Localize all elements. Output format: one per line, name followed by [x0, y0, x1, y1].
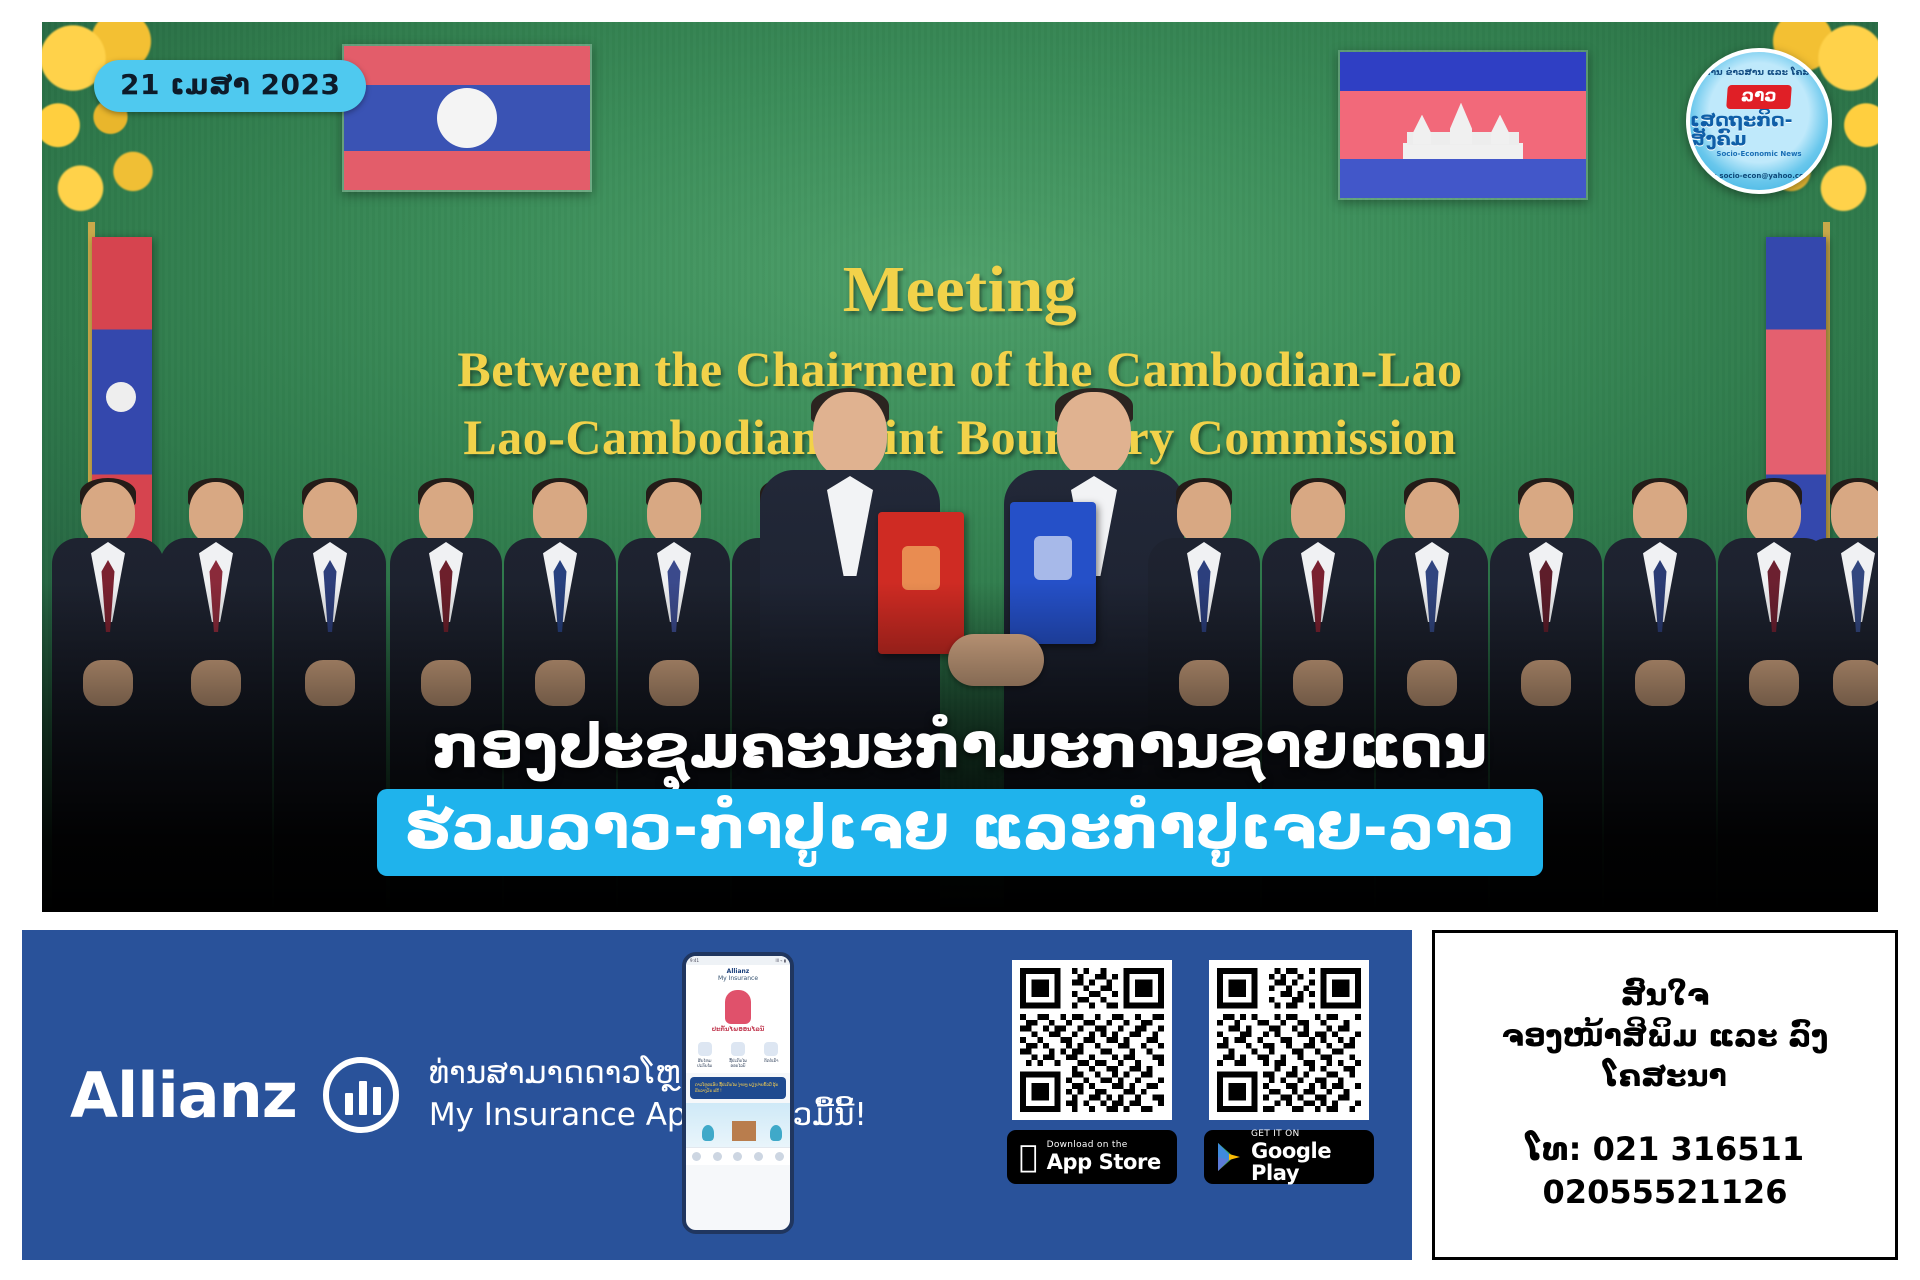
allianz-wordmark: Allianz: [70, 1059, 297, 1132]
allianz-bars-icon: [323, 1057, 399, 1133]
tree-icon: [702, 1125, 714, 1141]
lao-flag-top-band: [344, 46, 590, 85]
lao-flag: [342, 44, 592, 192]
photo-banner: Meeting Between the Chairmen of the Camb…: [42, 22, 1878, 912]
contact-phone-1[interactable]: ໂທ: 021 316511: [1526, 1128, 1804, 1171]
allianz-ad-banner[interactable]: Allianz ທ່ານສາມາດດາວໂຫຼດ My Insurance Ap…: [22, 930, 1412, 1260]
phone-tile: ຊື້ປະກັນໄພ ອອນໄລນ໌: [725, 1042, 751, 1068]
date-badge: 21 ເມສາ 2023: [94, 60, 366, 112]
phone-status-icons: lll ⌁ ▮: [776, 958, 787, 963]
house-icon: [732, 1121, 756, 1141]
angkor-wat-icon: [1403, 101, 1523, 159]
allianz-tagline-line1: ທ່ານສາມາດດາວໂຫຼດ: [429, 1053, 867, 1095]
logo-main-text: ເສດຖະກິດ-ສັງຄົມ: [1690, 111, 1828, 149]
qr-code-googleplay[interactable]: [1209, 960, 1369, 1120]
allianz-logo-group: Allianz: [22, 1057, 399, 1133]
wall-title-line1: Meeting: [42, 252, 1878, 328]
cambodia-flag-top-band: [1340, 52, 1586, 91]
logo-ribbon-text: ລາວ: [1726, 85, 1791, 109]
bottom-row: Allianz ທ່ານສາມາດດາວໂຫຼດ My Insurance Ap…: [22, 930, 1898, 1260]
lao-flag-bottom-band: [344, 151, 590, 190]
claim-icon: [698, 1042, 712, 1056]
gold-decoration-left: [42, 22, 178, 226]
headline-block: ກອງປະຊຸມຄະນະກຳມະການຊາຍແດນ ຮ່ວມລາວ-ກຳປູເຈ…: [84, 714, 1836, 876]
qr-code-appstore[interactable]: [1012, 960, 1172, 1120]
nav-chat-icon: [754, 1152, 763, 1161]
phone-hero: ປະກັນໄພອອນໄລນ໌: [686, 984, 790, 1037]
phone-navbar: [686, 1147, 790, 1165]
phone-tile-row: ສິນໄຫມ ປະກັນໄພ ຊື້ປະກັນໄພ ອອນໄລນ໌ ຕິດຕໍ່…: [686, 1037, 790, 1073]
lao-flag-middle-band: [344, 85, 590, 151]
phone-tile: ຕິດຕໍ່ເຮົາ: [758, 1042, 784, 1068]
nav-card-icon: [733, 1152, 742, 1161]
contact-box: ສົນໃຈ ຈອງໜ້າສິພິມ ແລະ ລົງໂຄສະນາ ໂທ: 021 …: [1432, 930, 1898, 1260]
phone-mockup: 9:41 lll ⌁ ▮ Allianz My Insurance ປະກັນໄ…: [682, 952, 794, 1234]
buy-icon: [731, 1042, 745, 1056]
phone-promo-highlight: ຟຣີ !: [713, 1088, 721, 1093]
headline-line-1: ກອງປະຊຸມຄະນະກຳມະການຊາຍແດນ: [84, 714, 1836, 781]
nav-search-icon: [713, 1152, 722, 1161]
apple-icon: : [1019, 1142, 1038, 1173]
cambodia-flag: [1338, 50, 1588, 200]
logo-contact-text: E-Mail: socio-econ@yahoo.com ໂທ: 021 316…: [1690, 172, 1828, 180]
google-play-button[interactable]: GET IT ON Google Play: [1204, 1130, 1374, 1184]
phone-app-brand: Allianz: [686, 968, 790, 975]
tree-icon: [770, 1125, 782, 1141]
app-store-big-label: App Store: [1047, 1151, 1161, 1173]
phone-tile: ສິນໄຫມ ປະກັນໄພ: [692, 1042, 718, 1068]
logo-arc-top-text: ບໍລິການ ຂ່າວສານ ແລະ ໂຄສະນາ - ປະຊາສຳພັນ: [1690, 68, 1828, 78]
phone-hero-figure-icon: [725, 990, 751, 1024]
googleplay-block[interactable]: GET IT ON Google Play: [1204, 960, 1374, 1184]
logo-subtitle-text: Socio-Economic News: [1716, 150, 1801, 158]
phone-statusbar: 9:41 lll ⌁ ▮: [686, 956, 790, 965]
nav-profile-icon: [775, 1152, 784, 1161]
allianz-tagline-line2: My Insurance App ໄດ້ແລ້ວມື້ນີ້!: [429, 1095, 867, 1137]
contact-icon: [764, 1042, 778, 1056]
poster-root: Meeting Between the Chairmen of the Camb…: [0, 0, 1920, 1280]
nav-home-icon: [692, 1152, 701, 1161]
phone-topbar: Allianz My Insurance: [686, 965, 790, 984]
phone-clock: 9:41: [690, 958, 699, 963]
phone-promo-text: ດາວໂຫຼດແອັບ ຊື້ປະກັນໄພ ງ່າຍໆ ພຽງປາຍນິ້ວມ…: [695, 1082, 778, 1093]
app-store-button[interactable]:  Download on the App Store: [1007, 1130, 1177, 1184]
phone-app-subtitle: My Insurance: [686, 975, 790, 982]
google-play-big-label: Google Play: [1251, 1140, 1362, 1184]
phone-hero-caption: ປະກັນໄພອອນໄລນ໌: [686, 1026, 790, 1033]
publisher-logo[interactable]: ບໍລິການ ຂ່າວສານ ແລະ ໂຄສະນາ - ປະຊາສຳພັນ ລ…: [1686, 48, 1832, 194]
lao-flag-disc: [437, 88, 497, 148]
headline-line-2: ຮ່ວມລາວ-ກຳປູເຈຍ ແລະກຳປູເຈຍ-ລາວ: [377, 789, 1544, 876]
phone-illustration: [686, 1103, 790, 1147]
phone-promo-card: ດາວໂຫຼດແອັບ ຊື້ປະກັນໄພ ງ່າຍໆ ພຽງປາຍນິ້ວມ…: [690, 1077, 786, 1099]
contact-heading: ສົນໃຈ: [1621, 976, 1709, 1017]
google-play-icon: [1216, 1142, 1242, 1172]
cambodia-flag-bottom-band: [1340, 159, 1586, 198]
contact-subheading: ຈອງໜ້າສິພິມ ແລະ ລົງໂຄສະນາ: [1447, 1017, 1883, 1098]
allianz-tagline: ທ່ານສາມາດດາວໂຫຼດ My Insurance App ໄດ້ແລ້…: [429, 1053, 867, 1137]
appstore-block[interactable]:  Download on the App Store: [1007, 960, 1177, 1184]
cambodia-flag-middle-band: [1340, 91, 1586, 158]
contact-phone-2[interactable]: 02055521126: [1543, 1171, 1788, 1214]
